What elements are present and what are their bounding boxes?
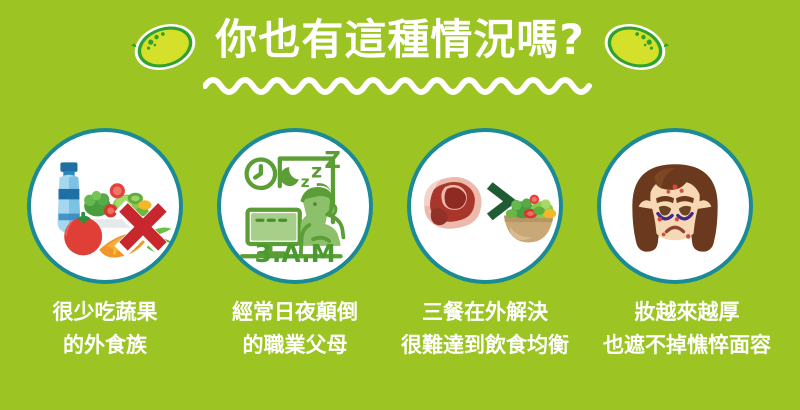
vegetables-bottle-x-icon <box>31 132 179 280</box>
caption-line: 很少吃蔬果 <box>5 296 205 329</box>
caption-item-1: 很少吃蔬果 的外食族 <box>5 296 205 362</box>
am-time-label: 3.A.M <box>221 239 369 268</box>
header: 你也有這種情況嗎? <box>0 0 800 110</box>
caption-item-4: 妝越來越厚 也遮不掉憔悴面容 <box>578 296 796 362</box>
icon-circle-vegetables <box>27 128 183 284</box>
caption-line: 三餐在外解決 <box>383 296 587 329</box>
caption-item-3: 三餐在外解決 很難達到飲食均衡 <box>383 296 587 362</box>
tired-woman-face-icon <box>601 132 749 280</box>
wavy-divider <box>203 72 597 96</box>
caption-line: 經常日夜顛倒 <box>195 296 395 329</box>
caption-line: 妝越來越厚 <box>578 296 796 329</box>
icon-circle-sleepless: z z Z 3.A.M <box>217 128 373 284</box>
icon-circle-meat-vs-salad <box>407 128 563 284</box>
caption-item-2: 經常日夜顛倒 的職業父母 <box>195 296 395 362</box>
infographic-root: 你也有這種情況嗎? <box>0 0 800 410</box>
meat-greater-than-salad-icon <box>411 132 559 280</box>
svg-text:z: z <box>301 173 310 191</box>
page-title: 你也有這種情況嗎? <box>0 16 800 64</box>
caption-line: 也遮不掉憔悴面容 <box>578 329 796 362</box>
lemon-icon <box>598 16 672 78</box>
caption-line: 的職業父母 <box>195 329 395 362</box>
icon-circle-row: z z Z 3.A.M <box>0 128 800 288</box>
caption-line: 的外食族 <box>5 329 205 362</box>
svg-text:z: z <box>311 161 322 183</box>
caption-line: 很難達到飲食均衡 <box>383 329 587 362</box>
caption-row: 很少吃蔬果 的外食族 經常日夜顛倒 的職業父母 三餐在外解決 很難達到飲食均衡 … <box>0 296 800 376</box>
icon-circle-tired-face <box>597 128 753 284</box>
svg-text:Z: Z <box>324 148 341 174</box>
